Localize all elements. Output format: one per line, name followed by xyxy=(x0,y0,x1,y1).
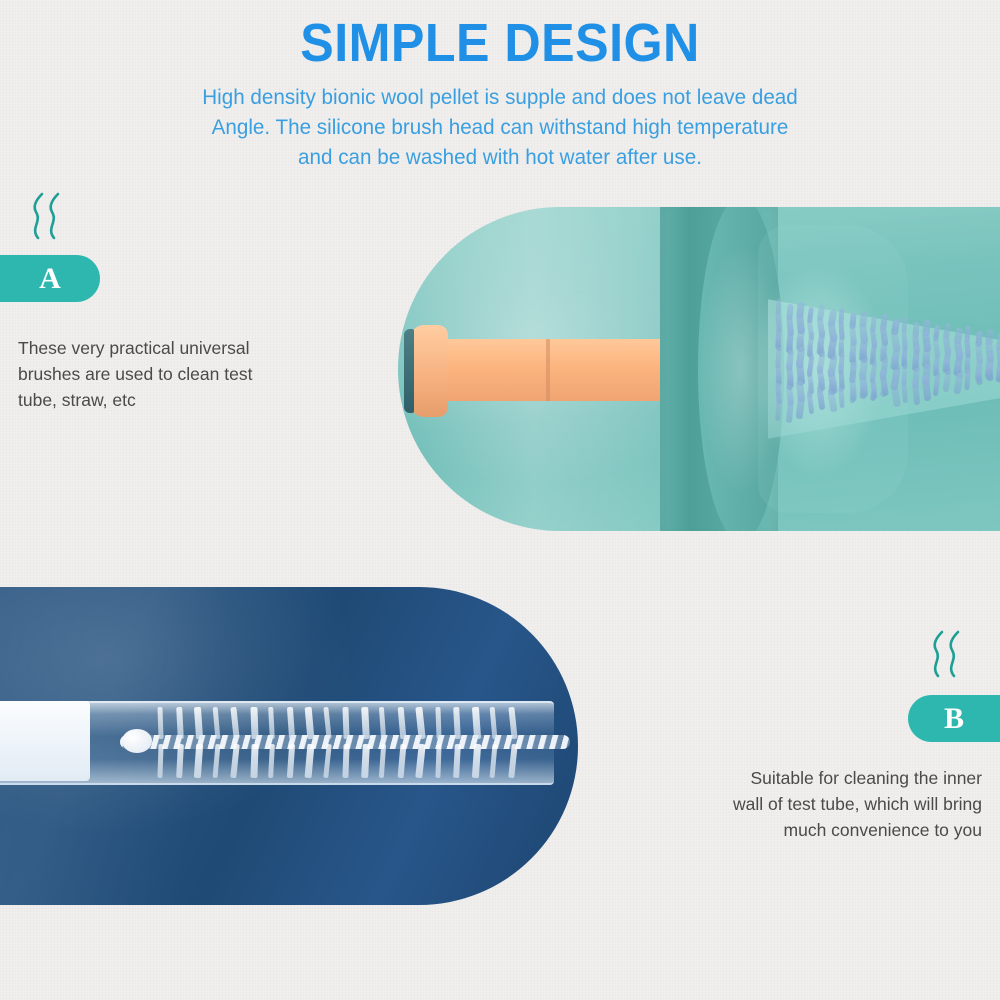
silicone-bottle-brush-photo xyxy=(398,207,1000,531)
caption-b-line-2: wall of test tube, which will bring xyxy=(690,791,982,817)
bristle-tuft xyxy=(250,744,258,778)
section-badge-b[interactable]: B xyxy=(908,695,1000,742)
silicone-bristle xyxy=(975,369,982,385)
bristle-tuft xyxy=(361,707,370,739)
badge-letter-a: A xyxy=(39,264,61,294)
test-tube-brush-photo xyxy=(0,587,578,905)
handle-seam xyxy=(546,339,550,401)
caption-a-line-2: brushes are used to clean test xyxy=(18,361,318,387)
steam-icon xyxy=(924,630,968,683)
subtitle-line-3: and can be washed with hot water after u… xyxy=(20,142,980,172)
header: SIMPLE DESIGN High density bionic wool p… xyxy=(0,14,1000,172)
test-tube-opening xyxy=(0,701,90,781)
subtitle-line-1: High density bionic wool pellet is suppl… xyxy=(20,82,980,112)
silicone-bristle xyxy=(849,387,856,403)
bristle-tuft xyxy=(435,707,441,739)
caption-b-line-1: Suitable for cleaning the inner xyxy=(690,765,982,791)
section-badge-a[interactable]: A xyxy=(0,255,100,302)
steam-icon xyxy=(24,192,68,245)
wire-tip xyxy=(122,729,152,753)
bristle-tuft xyxy=(176,707,184,739)
badge-letter-b: B xyxy=(944,704,964,734)
bristle-tuft xyxy=(250,707,258,739)
caption-a-line-3: tube, straw, etc xyxy=(18,387,318,413)
bristle-tuft xyxy=(435,744,441,778)
orange-handle xyxy=(408,339,698,401)
section-b-caption: Suitable for cleaning the inner wall of … xyxy=(690,765,982,843)
bristle-tuft xyxy=(342,707,349,739)
bristle-tuft xyxy=(342,744,349,778)
handle-end-cap xyxy=(404,329,414,413)
subtitle-line-2: Angle. The silicone brush head can withs… xyxy=(20,112,980,142)
bristle-tuft xyxy=(361,744,370,778)
handle-knob xyxy=(410,325,448,417)
page-title: SIMPLE DESIGN xyxy=(35,14,965,72)
page-subtitle: High density bionic wool pellet is suppl… xyxy=(20,82,980,172)
caption-a-line-1: These very practical universal xyxy=(18,335,318,361)
bristle-tuft xyxy=(176,744,184,778)
section-a-caption: These very practical universal brushes a… xyxy=(18,335,318,413)
caption-b-line-3: much convenience to you xyxy=(690,817,982,843)
product-infographic: SIMPLE DESIGN High density bionic wool p… xyxy=(0,0,1000,1000)
bristle-tuft xyxy=(157,707,163,739)
